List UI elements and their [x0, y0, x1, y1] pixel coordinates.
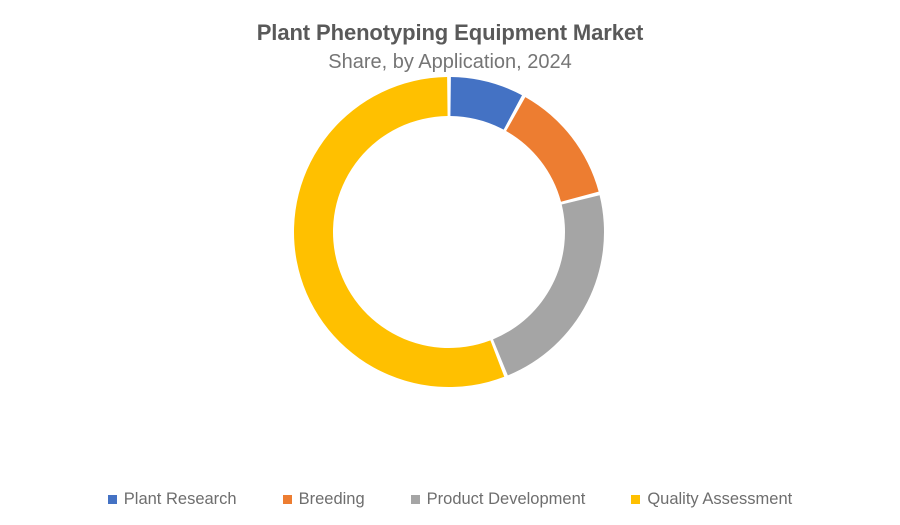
- legend-swatch-icon: [631, 495, 640, 504]
- donut-chart: [0, 76, 900, 446]
- legend-item-quality-assessment[interactable]: Quality Assessment: [631, 489, 792, 509]
- legend-swatch-icon: [108, 495, 117, 504]
- legend-item-product-development[interactable]: Product Development: [411, 489, 586, 509]
- chart-header: Plant Phenotyping Equipment Market Share…: [0, 0, 900, 76]
- legend-swatch-icon: [283, 495, 292, 504]
- chart-subtitle: Share, by Application, 2024: [0, 47, 900, 76]
- page-title: Plant Phenotyping Equipment Market: [0, 19, 900, 47]
- chart-legend: Plant Research Breeding Product Developm…: [0, 489, 900, 509]
- plot-area: [0, 76, 900, 446]
- donut-slice[interactable]: [450, 77, 522, 130]
- chart-figure: Plant Phenotyping Equipment Market Share…: [0, 0, 900, 525]
- legend-item-label: Plant Research: [124, 489, 237, 509]
- donut-slice[interactable]: [506, 97, 599, 202]
- donut-slice[interactable]: [294, 77, 504, 387]
- donut-slice[interactable]: [493, 195, 604, 375]
- legend-item-breeding[interactable]: Breeding: [283, 489, 365, 509]
- legend-item-label: Product Development: [427, 489, 586, 509]
- donut-slice-group: [294, 77, 604, 387]
- legend-swatch-icon: [411, 495, 420, 504]
- legend-item-plant-research[interactable]: Plant Research: [108, 489, 237, 509]
- legend-item-label: Breeding: [299, 489, 365, 509]
- legend-item-label: Quality Assessment: [647, 489, 792, 509]
